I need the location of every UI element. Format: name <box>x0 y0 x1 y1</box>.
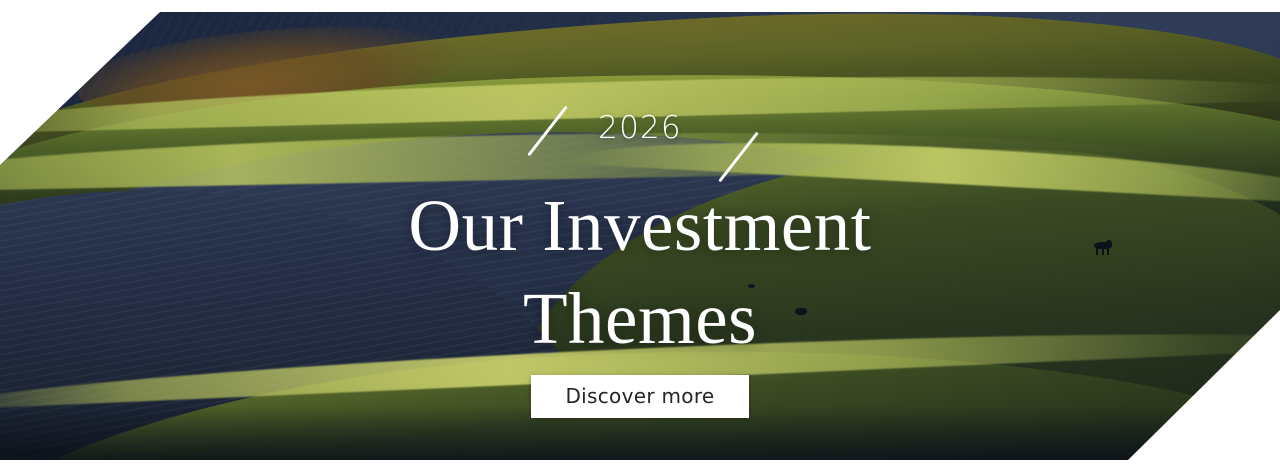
hero-content: 2026 Our Investment Themes Discover more <box>0 12 1280 460</box>
eyebrow-row: 2026 <box>0 104 1280 156</box>
hero-banner: 2026 Our Investment Themes Discover more <box>0 0 1280 473</box>
headline-line-2: Themes <box>0 272 1280 365</box>
eyebrow-year: 2026 <box>0 110 1280 146</box>
cta-wrapper: Discover more <box>0 375 1280 418</box>
discover-more-button[interactable]: Discover more <box>531 375 748 418</box>
page-title: Our Investment Themes <box>0 179 1280 365</box>
headline-line-1: Our Investment <box>408 185 871 266</box>
